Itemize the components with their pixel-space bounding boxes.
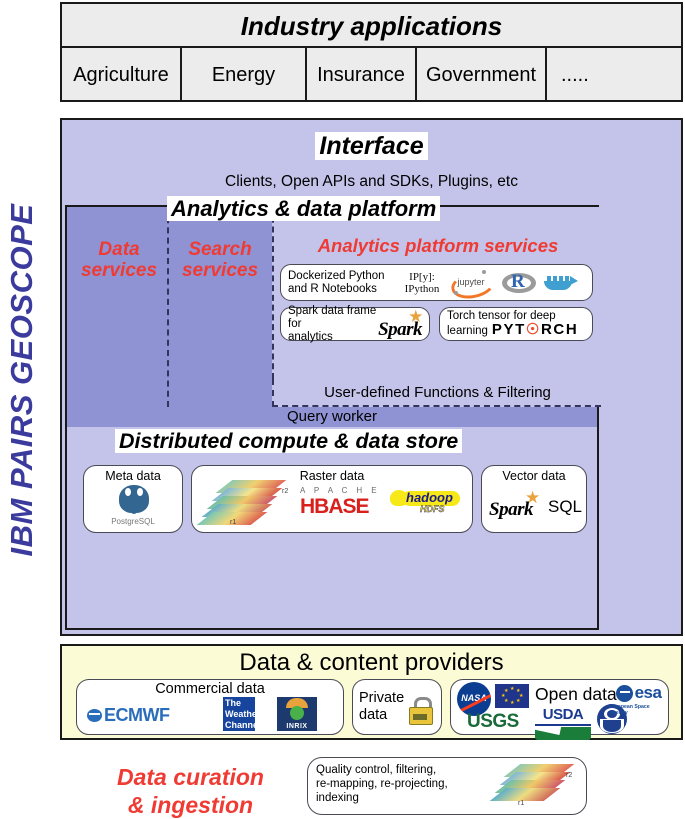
pytorch-logo: PYT☉RCH bbox=[492, 323, 578, 336]
postgresql-logo bbox=[117, 484, 151, 516]
industry-applications-panel: Industry applications Agriculture Energy… bbox=[60, 2, 683, 102]
usgs-logo: USGS bbox=[467, 711, 519, 733]
store-vector-data[interactable]: Vector data ★ Spark SQL bbox=[481, 465, 587, 533]
spark-logo: ★ Spark bbox=[489, 491, 547, 519]
divider-search-analytics bbox=[272, 207, 274, 379]
data-providers-title: Data & content providers bbox=[62, 646, 681, 677]
pill-spark-text: Spark data frame for analytics bbox=[281, 305, 378, 344]
industry-cell-insurance[interactable]: Insurance bbox=[307, 48, 417, 102]
industry-applications-title: Industry applications bbox=[62, 4, 681, 48]
spark-logo: ★ Spark bbox=[378, 309, 429, 339]
pill-pytorch-text: Torch tensor for deep learning PYT☉RCH bbox=[440, 310, 592, 338]
open-data-caption: Open data bbox=[535, 684, 617, 705]
commercial-data-caption: Commercial data bbox=[77, 680, 343, 697]
padlock-icon bbox=[409, 697, 431, 723]
ecmwf-logo: ECMWF bbox=[87, 705, 169, 726]
distributed-compute-title-wrap: Distributed compute & data store bbox=[115, 429, 462, 454]
store-meta-data-caption: Meta data bbox=[84, 466, 182, 483]
spark-sql-suffix: SQL bbox=[548, 497, 582, 517]
analytics-platform-services-label: Analytics platform services bbox=[277, 235, 599, 256]
provider-group-commercial[interactable]: Commercial data ECMWF TheWeatherChannel … bbox=[76, 679, 344, 735]
industry-cell-government[interactable]: Government bbox=[417, 48, 547, 102]
analytics-and-data-store-box: Analytics & data platform Data services … bbox=[65, 205, 599, 630]
divider-data-search bbox=[167, 207, 169, 407]
industry-cell-energy[interactable]: Energy bbox=[182, 48, 307, 102]
weather-channel-logo: TheWeatherChannel bbox=[223, 697, 255, 731]
brand-label: IBM PAIRS GEOSCOPE bbox=[0, 130, 45, 630]
industry-cell-agriculture[interactable]: Agriculture bbox=[62, 48, 182, 102]
interface-title: Interface bbox=[315, 132, 427, 160]
pill-dockerized-notebooks[interactable]: Dockerized Python and R Notebooks IP[y]:… bbox=[280, 264, 593, 301]
usda-logo: USDA bbox=[535, 706, 591, 740]
pill-pytorch-tensor[interactable]: Torch tensor for deep learning PYT☉RCH bbox=[439, 307, 593, 341]
distributed-compute-title: Distributed compute & data store bbox=[115, 429, 462, 453]
apache-hbase-logo: A P A C H E HBASE bbox=[300, 486, 380, 519]
store-vector-data-caption: Vector data bbox=[482, 466, 586, 483]
search-services-line2: services bbox=[171, 260, 269, 281]
docker-logo bbox=[544, 272, 578, 294]
private-data-caption: Private data bbox=[353, 690, 404, 724]
r-logo: R bbox=[502, 270, 536, 296]
data-services-line1: Data bbox=[73, 239, 165, 260]
search-services-label: Search services bbox=[171, 239, 269, 281]
analytics-platform-title-wrap: Analytics & data platform bbox=[167, 196, 440, 222]
pill-spark-dataframe[interactable]: Spark data frame for analytics ★ Spark bbox=[280, 307, 430, 341]
data-services-label: Data services bbox=[73, 239, 165, 281]
query-worker-band: Query worker bbox=[67, 407, 597, 427]
pairs-geoscope-stack: Interface Clients, Open APIs and SDKs, P… bbox=[60, 118, 683, 636]
esa-logo: esa European Space Agency bbox=[609, 683, 668, 716]
data-curation-line2: & ingestion bbox=[111, 791, 270, 819]
provider-group-private[interactable]: Private data bbox=[352, 679, 442, 735]
industry-cell-more[interactable]: ..... bbox=[547, 48, 681, 102]
user-defined-functions-band: User-defined Functions & Filtering bbox=[272, 379, 601, 407]
interface-section: Interface Clients, Open APIs and SDKs, P… bbox=[62, 120, 681, 205]
search-services-line1: Search bbox=[171, 239, 269, 260]
curation-detail-text: Quality control, filtering, re-mapping, … bbox=[316, 763, 448, 805]
data-curation-line1: Data curation bbox=[111, 763, 270, 791]
data-curation-label: Data curation & ingestion bbox=[111, 763, 270, 819]
data-providers-panel: Data & content providers Commercial data… bbox=[60, 644, 683, 740]
provider-group-open[interactable]: NASA ★ ★ ★ ★ ★ ★ ★ ★ Open data USGS USDA bbox=[450, 679, 669, 735]
ipython-logo: IP[y]:IPython bbox=[400, 271, 444, 295]
store-raster-data[interactable]: Raster data r1 r2 A P A C H E HBASE bbox=[191, 465, 473, 533]
store-meta-data[interactable]: Meta data PostgreSQL bbox=[83, 465, 183, 533]
eu-flag-logo: ★ ★ ★ ★ ★ ★ ★ ★ bbox=[495, 684, 529, 708]
analytics-platform-title: Analytics & data platform bbox=[167, 196, 440, 221]
pill-notebooks-text: Dockerized Python and R Notebooks bbox=[281, 270, 400, 296]
hadoop-hdfs-logo: hadoop HDFS bbox=[390, 489, 462, 515]
industry-applications-row: Agriculture Energy Insurance Government … bbox=[62, 48, 681, 102]
raster-stack-icon: r1 r2 bbox=[490, 764, 576, 808]
curation-detail-box[interactable]: Quality control, filtering, re-mapping, … bbox=[307, 757, 587, 815]
interface-title-wrap: Interface bbox=[62, 120, 681, 161]
jupyter-logo: jupyter bbox=[448, 270, 494, 296]
postgresql-logo-text: PostgreSQL bbox=[84, 517, 182, 526]
raster-stack-icon: r1 r2 bbox=[200, 480, 292, 526]
data-services-line2: services bbox=[73, 260, 165, 281]
inrix-logo: INRIX bbox=[277, 697, 317, 731]
interface-subtitle: Clients, Open APIs and SDKs, Plugins, et… bbox=[62, 173, 681, 191]
